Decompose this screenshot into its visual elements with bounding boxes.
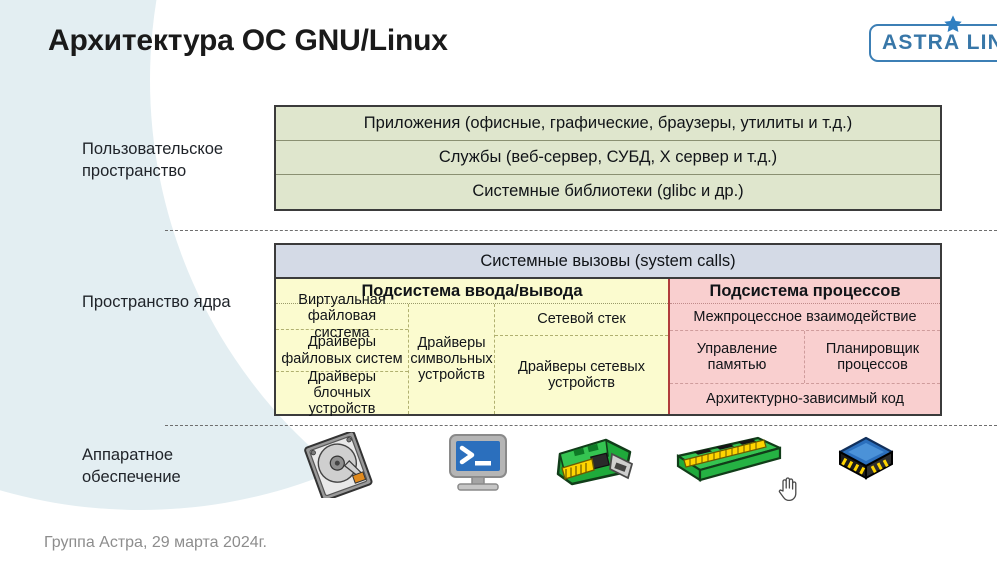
process-subsystem-grid: Межпроцессное взаимодействие Управление … — [670, 304, 940, 414]
hand-cursor — [776, 474, 800, 502]
io-column-network: Сетевой стек Драйверы сетевых устройств — [495, 304, 668, 414]
astra-linux-logo: ASTRA LIN — [869, 24, 997, 62]
io-cell-block-drivers: Драйверы блочных устройств — [276, 372, 408, 414]
astra-linux-logo-text: ASTRA LIN — [882, 31, 997, 55]
process-cell-ipc: Межпроцессное взаимодействие — [670, 304, 940, 331]
process-cell-memory: Управление памятью — [670, 331, 805, 383]
ram-module-icon — [674, 432, 784, 490]
section-label-kernel: Пространство ядра — [82, 291, 272, 313]
io-subsystem: Подсистема ввода/вывода Виртуальная файл… — [276, 279, 670, 414]
star-icon — [942, 14, 964, 36]
network-card-icon — [552, 432, 636, 494]
process-row-middle: Управление памятью Планировщик процессов — [670, 331, 940, 384]
monitor-terminal-icon — [444, 432, 512, 494]
process-cell-scheduler: Планировщик процессов — [805, 331, 940, 383]
section-label-hardware: Аппаратное обеспечение — [82, 444, 272, 489]
io-cell-network-drivers: Драйверы сетевых устройств — [495, 336, 668, 414]
userspace-block: Приложения (офисные, графические, браузе… — [274, 105, 942, 211]
io-column-char-devices: Драйверы символьных устройств — [409, 304, 495, 414]
userspace-row-libraries: Системные библиотеки (glibc и др.) — [276, 175, 940, 209]
io-cell-vfs: Виртуальная файловая система — [276, 304, 408, 330]
io-cell-network-stack: Сетевой стек — [495, 304, 668, 336]
slide-canvas: Архитектура ОС GNU/Linux ASTRA LIN Польз… — [0, 0, 997, 576]
io-cell-char-drivers: Драйверы символьных устройств — [407, 304, 495, 414]
page-title: Архитектура ОС GNU/Linux — [48, 24, 448, 58]
section-label-userspace: Пользовательское пространство — [82, 138, 272, 183]
io-cell-fs-drivers: Драйверы файловых систем — [276, 330, 408, 372]
userspace-row-services: Службы (веб-сервер, СУБД, X сервер и т.д… — [276, 141, 940, 175]
io-subsystem-grid: Виртуальная файловая система Драйверы фа… — [276, 304, 668, 414]
kernel-subsystems: Подсистема ввода/вывода Виртуальная файл… — [276, 279, 940, 414]
separator-kernel-hardware — [165, 425, 997, 426]
kernel-syscalls-row: Системные вызовы (system calls) — [276, 245, 940, 279]
process-cell-arch-code: Архитектурно-зависимый код — [670, 384, 940, 414]
io-column-filesystem: Виртуальная файловая система Драйверы фа… — [276, 304, 409, 414]
footer-note: Группа Астра, 29 марта 2024г. — [44, 534, 267, 552]
hard-disk-icon — [298, 432, 378, 498]
cpu-chip-icon — [834, 432, 898, 490]
userspace-row-applications: Приложения (офисные, графические, браузе… — [276, 107, 940, 141]
process-subsystem-title: Подсистема процессов — [670, 279, 940, 304]
process-subsystem: Подсистема процессов Межпроцессное взаим… — [670, 279, 940, 414]
separator-userspace-kernel — [165, 230, 997, 231]
hardware-icons-row — [274, 432, 942, 502]
kernel-block: Системные вызовы (system calls) Подсисте… — [274, 243, 942, 416]
